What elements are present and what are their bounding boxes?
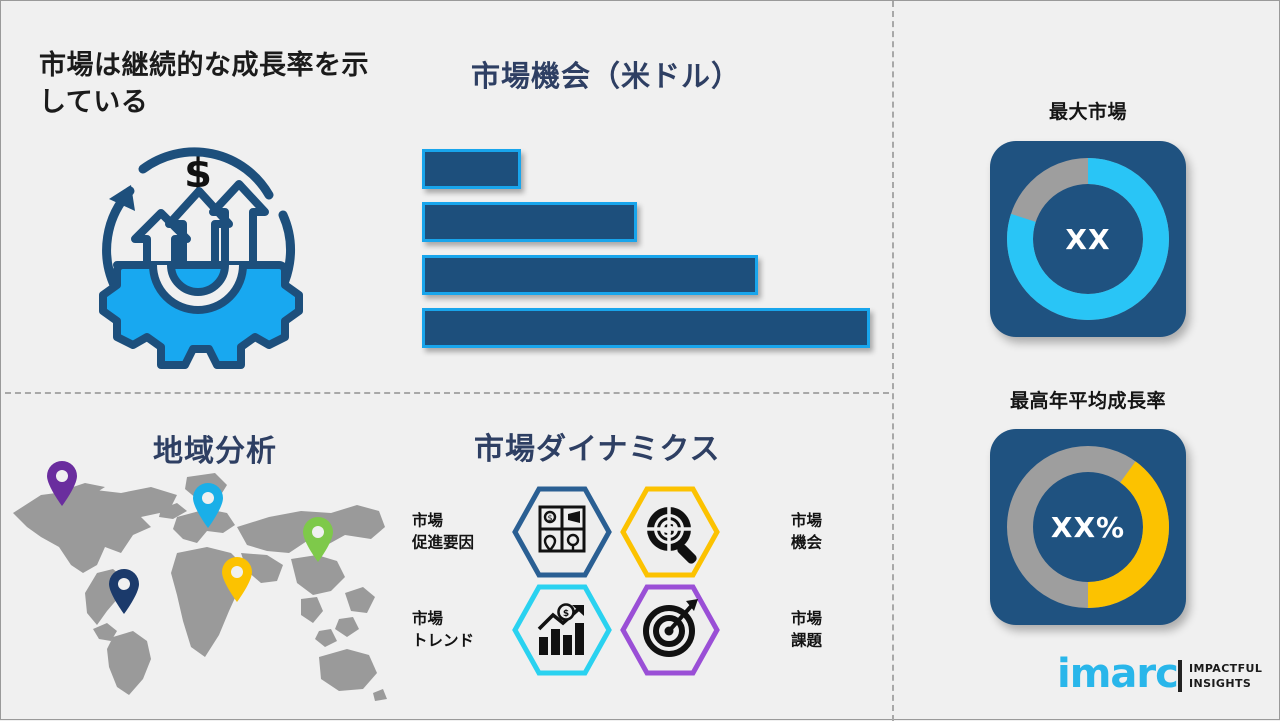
- highest-cagr-title: 最高年平均成長率: [988, 386, 1188, 413]
- highest-cagr-value: XX%: [990, 429, 1186, 625]
- hexagon-badge: [620, 583, 720, 677]
- logo-wordmark: imarc: [1057, 654, 1178, 694]
- market-opportunity-bar-chart: [422, 149, 882, 349]
- map-pin-east-asia[interactable]: [301, 517, 335, 563]
- highest-cagr-donut-card: XX%: [990, 429, 1186, 625]
- dynamics-label: 市場 トレンド: [412, 608, 474, 653]
- bar-row: [422, 308, 870, 348]
- bar-row: [422, 255, 758, 295]
- hexagon-badge: $: [620, 485, 720, 579]
- infographic-slide: 市場は継続的な成長率を示している $ 市場機会（米ドル） 最: [0, 0, 1280, 720]
- map-pin-europe[interactable]: [191, 483, 225, 529]
- svg-text:$: $: [547, 514, 552, 523]
- hexagon-badge: $: [512, 583, 612, 677]
- largest-market-title: 最大市場: [988, 97, 1188, 124]
- imarc-logo: imarc IMPACTFUL INSIGHTS: [1057, 656, 1257, 702]
- map-pin-north-america[interactable]: [45, 461, 79, 507]
- dynamics-item-market-challenges[interactable]: 市場 課題: [616, 581, 826, 679]
- logo-divider: [1178, 660, 1182, 692]
- svg-text:$: $: [563, 609, 569, 619]
- horizontal-divider: [5, 392, 889, 394]
- dynamics-label: 市場 課題: [791, 608, 822, 653]
- dynamics-item-market-drivers[interactable]: 市場 促進要因 $: [406, 483, 616, 581]
- vertical-divider: [892, 1, 894, 721]
- bar-row: [422, 149, 521, 189]
- map-pin-south-america[interactable]: [107, 569, 141, 615]
- bar-row: [422, 202, 637, 242]
- largest-market-donut-card: XX: [990, 141, 1186, 337]
- dynamics-item-market-trends[interactable]: 市場 トレンド $: [406, 581, 616, 679]
- largest-market-value: XX: [990, 141, 1186, 337]
- dynamics-label: 市場 促進要因: [412, 510, 474, 555]
- market-opportunity-title: 市場機会（米ドル）: [471, 53, 741, 95]
- market-dynamics-grid: 市場 促進要因 $: [406, 483, 826, 679]
- dynamics-item-market-opportunities[interactable]: $ 市場 機会: [616, 483, 826, 581]
- map-pin-middle-east-africa[interactable]: [220, 557, 254, 603]
- market-dynamics-title: 市場ダイナミクス: [474, 424, 721, 468]
- world-map: [1, 461, 401, 701]
- hexagon-badge: $: [512, 485, 612, 579]
- logo-tagline: IMPACTFUL INSIGHTS: [1189, 662, 1262, 692]
- dynamics-label: 市場 機会: [791, 510, 822, 555]
- growth-title: 市場は継続的な成長率を示している: [39, 47, 389, 122]
- growth-cycle-icon: $: [73, 129, 323, 369]
